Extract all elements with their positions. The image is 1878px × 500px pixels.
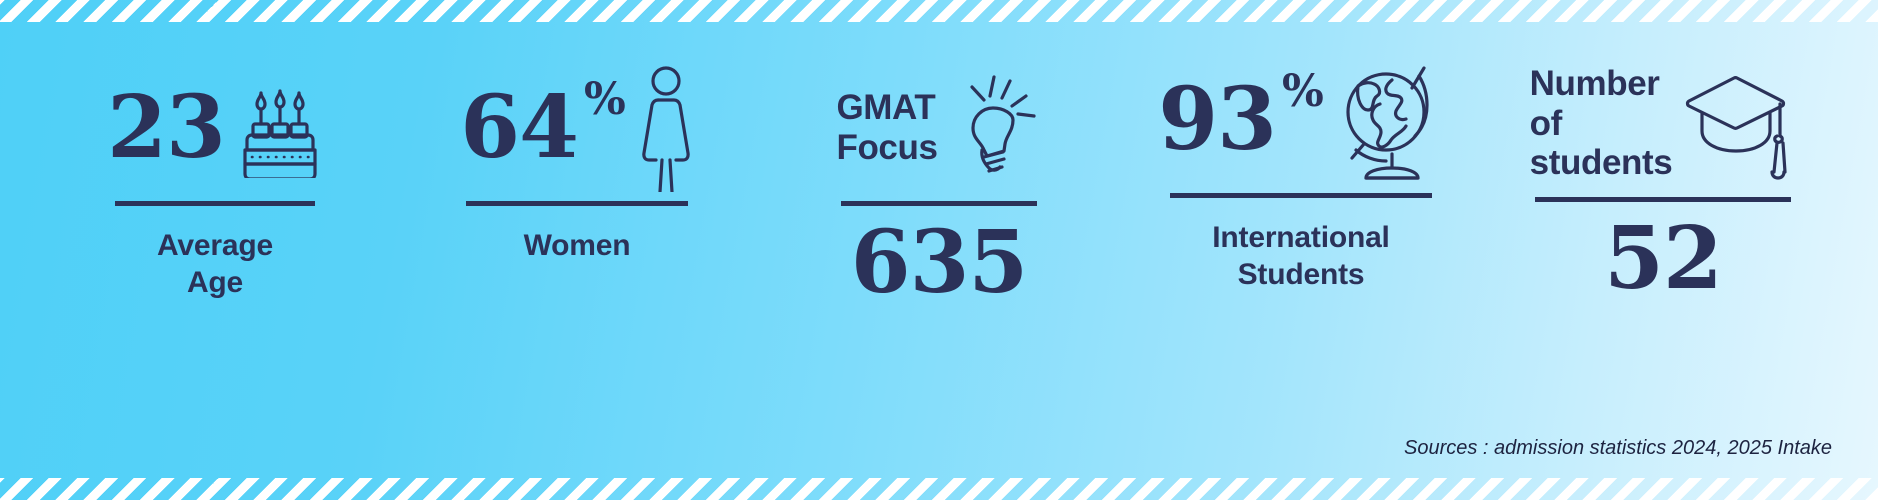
stat-kicker-row: Number of students (1535, 56, 1791, 191)
graduation-cap-icon (1684, 68, 1796, 180)
stat-women: 64 % Women (396, 22, 758, 265)
sources-note: Sources : admission statistics 2024, 202… (1404, 437, 1832, 460)
stat-value: 52 (1535, 216, 1791, 302)
stat-international-students: 93 % (1120, 22, 1482, 293)
stat-divider (115, 201, 315, 206)
stat-value: 23 (107, 85, 225, 171)
stat-label: Average Age (115, 228, 315, 301)
top-stripe-band (0, 0, 1878, 22)
stat-kicker-line2: Focus (836, 128, 937, 168)
stats-row: 23 (0, 22, 1878, 478)
stat-label-line1: Women (466, 228, 688, 265)
stat-value: 64 (460, 85, 578, 171)
percent-sign: % (584, 74, 626, 125)
stat-label: Women (466, 228, 688, 265)
stat-kicker-row: GMAT Focus (841, 60, 1037, 195)
stats-banner: 23 (0, 0, 1878, 500)
stat-label-line2: Students (1170, 257, 1432, 294)
stat-kicker: GMAT Focus (836, 88, 937, 168)
stat-kicker-line1: GMAT (836, 88, 937, 128)
birthday-cake-icon (237, 78, 323, 178)
stat-divider (466, 201, 688, 206)
stat-kicker-line2: of students (1530, 104, 1673, 184)
stat-value: 93 (1158, 77, 1276, 163)
percent-sign: % (1282, 66, 1324, 117)
stat-value-row: 93 % (1170, 52, 1432, 187)
stat-number-of-students: Number of students (1482, 22, 1844, 302)
stat-value-row: 64 % (466, 60, 688, 195)
lightbulb-icon (950, 74, 1042, 182)
stat-divider (841, 201, 1037, 206)
stat-average-age: 23 (34, 22, 396, 301)
bottom-stripe-band (0, 478, 1878, 500)
stat-value-text: 52 (1535, 216, 1791, 302)
globe-icon (1336, 58, 1444, 182)
stat-value-row: 23 (115, 60, 315, 195)
stat-label-line1: International (1170, 220, 1432, 257)
woman-figure-icon (638, 64, 694, 192)
stat-value-text: 635 (841, 220, 1037, 306)
stat-value: 635 (841, 220, 1037, 306)
stat-label: International Students (1170, 220, 1432, 293)
stat-label-line2: Age (115, 265, 315, 302)
stat-kicker: Number of students (1530, 64, 1673, 184)
stat-label-line1: Average (115, 228, 315, 265)
stat-divider (1535, 197, 1791, 202)
stat-kicker-line1: Number (1530, 64, 1673, 104)
stat-gmat-focus: GMAT Focus (758, 22, 1120, 306)
stat-divider (1170, 193, 1432, 198)
